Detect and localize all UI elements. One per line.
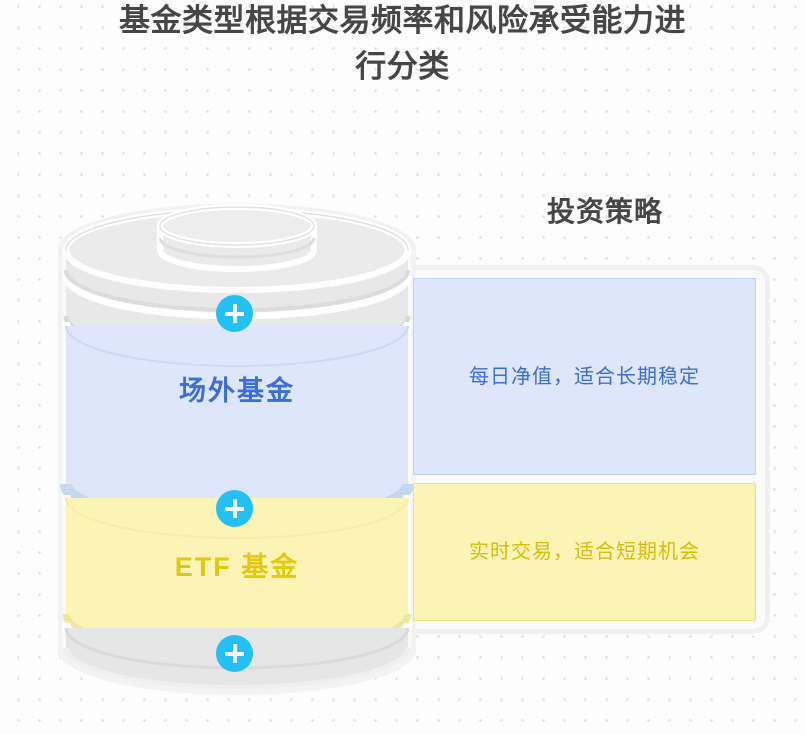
- plus-icon-bottom[interactable]: [216, 635, 253, 672]
- strategy-panel-etf-text: 实时交易，适合短期机会: [425, 536, 744, 568]
- barrel-lid-knob: [160, 207, 314, 269]
- infographic-canvas: 基金类型根据交易频率和风险承受能力进 行分类 投资策略: [0, 0, 805, 735]
- strategy-panel-etf: 实时交易，适合短期机会: [413, 483, 756, 621]
- strategy-panel-otc: 每日净值，适合长期稳定: [413, 278, 756, 475]
- barrel-diagram: [58, 198, 416, 698]
- strategy-panel-otc-text: 每日净值，适合长期稳定: [425, 361, 744, 393]
- plus-icon-top[interactable]: [216, 295, 253, 332]
- strategy-column-header: 投资策略: [455, 196, 755, 230]
- plus-icon-middle[interactable]: [216, 490, 253, 527]
